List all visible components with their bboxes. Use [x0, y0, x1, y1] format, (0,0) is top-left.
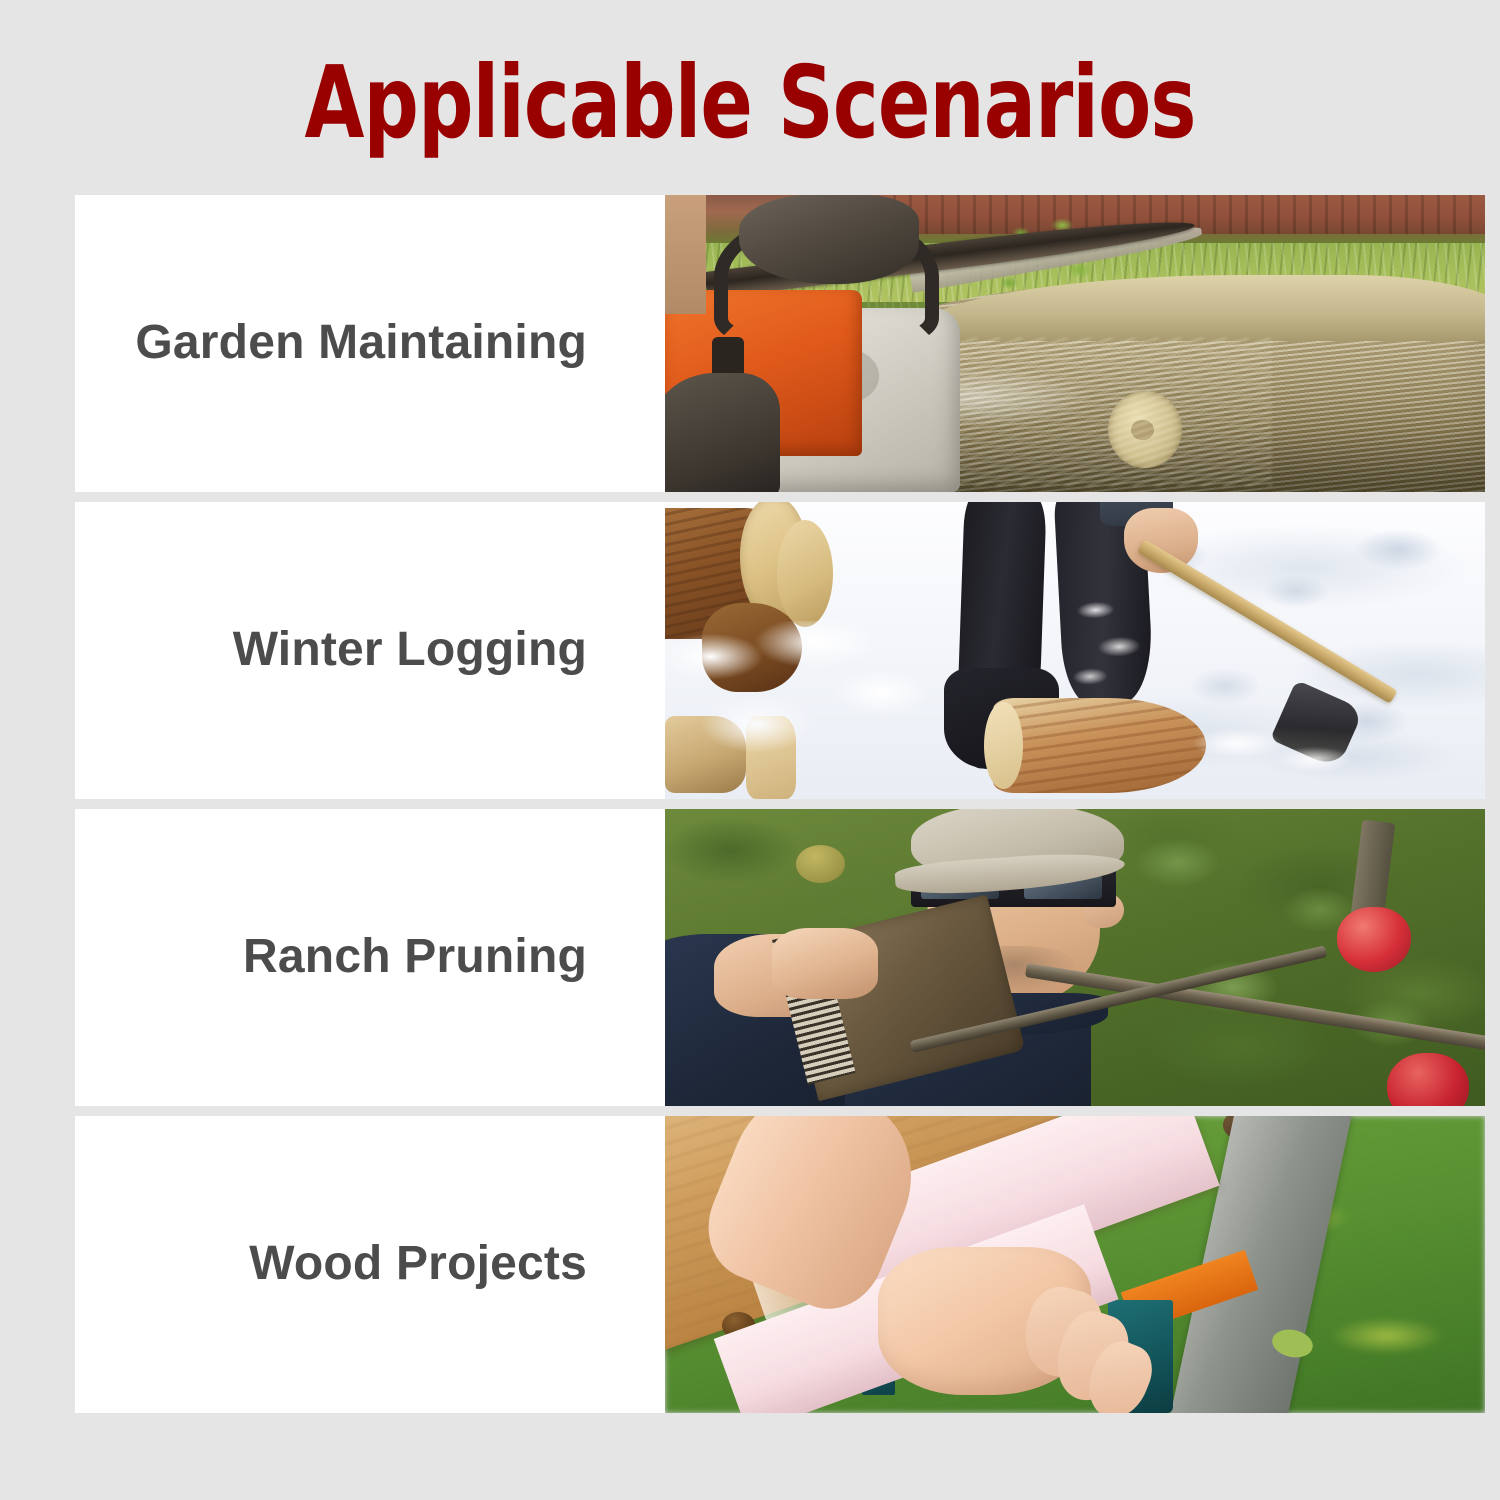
log-cut-face-b [777, 520, 833, 627]
operator-glove-lower [665, 373, 780, 492]
chainsaw-scene [665, 195, 1485, 492]
ranch-pruning-scene [665, 809, 1485, 1106]
scenario-label-ranch-pruning: Ranch Pruning [243, 931, 587, 984]
scenario-row-garden-maintaining: Garden Maintaining [75, 195, 1485, 492]
apple-right-lower [1387, 1053, 1469, 1106]
winter-logging-scene [665, 502, 1485, 799]
scenario-label-pane: Garden Maintaining [75, 195, 665, 492]
scenario-label-pane: Wood Projects [75, 1116, 665, 1413]
scenario-photo-winter-logging [665, 502, 1485, 799]
person-fist [772, 928, 879, 999]
page-title: Applicable Scenarios [304, 53, 1195, 153]
operator-arm [665, 195, 706, 314]
page-title-bar: Applicable Scenarios [0, 48, 1500, 158]
scenario-label-garden-maintaining: Garden Maintaining [135, 317, 587, 370]
scenario-row-winter-logging: Winter Logging [75, 502, 1485, 799]
scenario-list: Garden Maintaining [75, 195, 1485, 1413]
scenario-label-winter-logging: Winter Logging [233, 624, 587, 677]
scenario-row-wood-projects: Wood Projects [75, 1116, 1485, 1413]
wood-projects-scene [665, 1116, 1485, 1413]
scenario-photo-ranch-pruning [665, 809, 1485, 1106]
scenario-photo-wood-projects [665, 1116, 1485, 1413]
scenario-label-pane: Winter Logging [75, 502, 665, 799]
snow-spray [1173, 710, 1386, 793]
scenario-label-wood-projects: Wood Projects [249, 1238, 587, 1291]
scenario-photo-garden-maintaining [665, 195, 1485, 492]
scenario-row-ranch-pruning: Ranch Pruning [75, 809, 1485, 1106]
scenario-label-pane: Ranch Pruning [75, 809, 665, 1106]
operator-glove-upper [739, 195, 919, 284]
